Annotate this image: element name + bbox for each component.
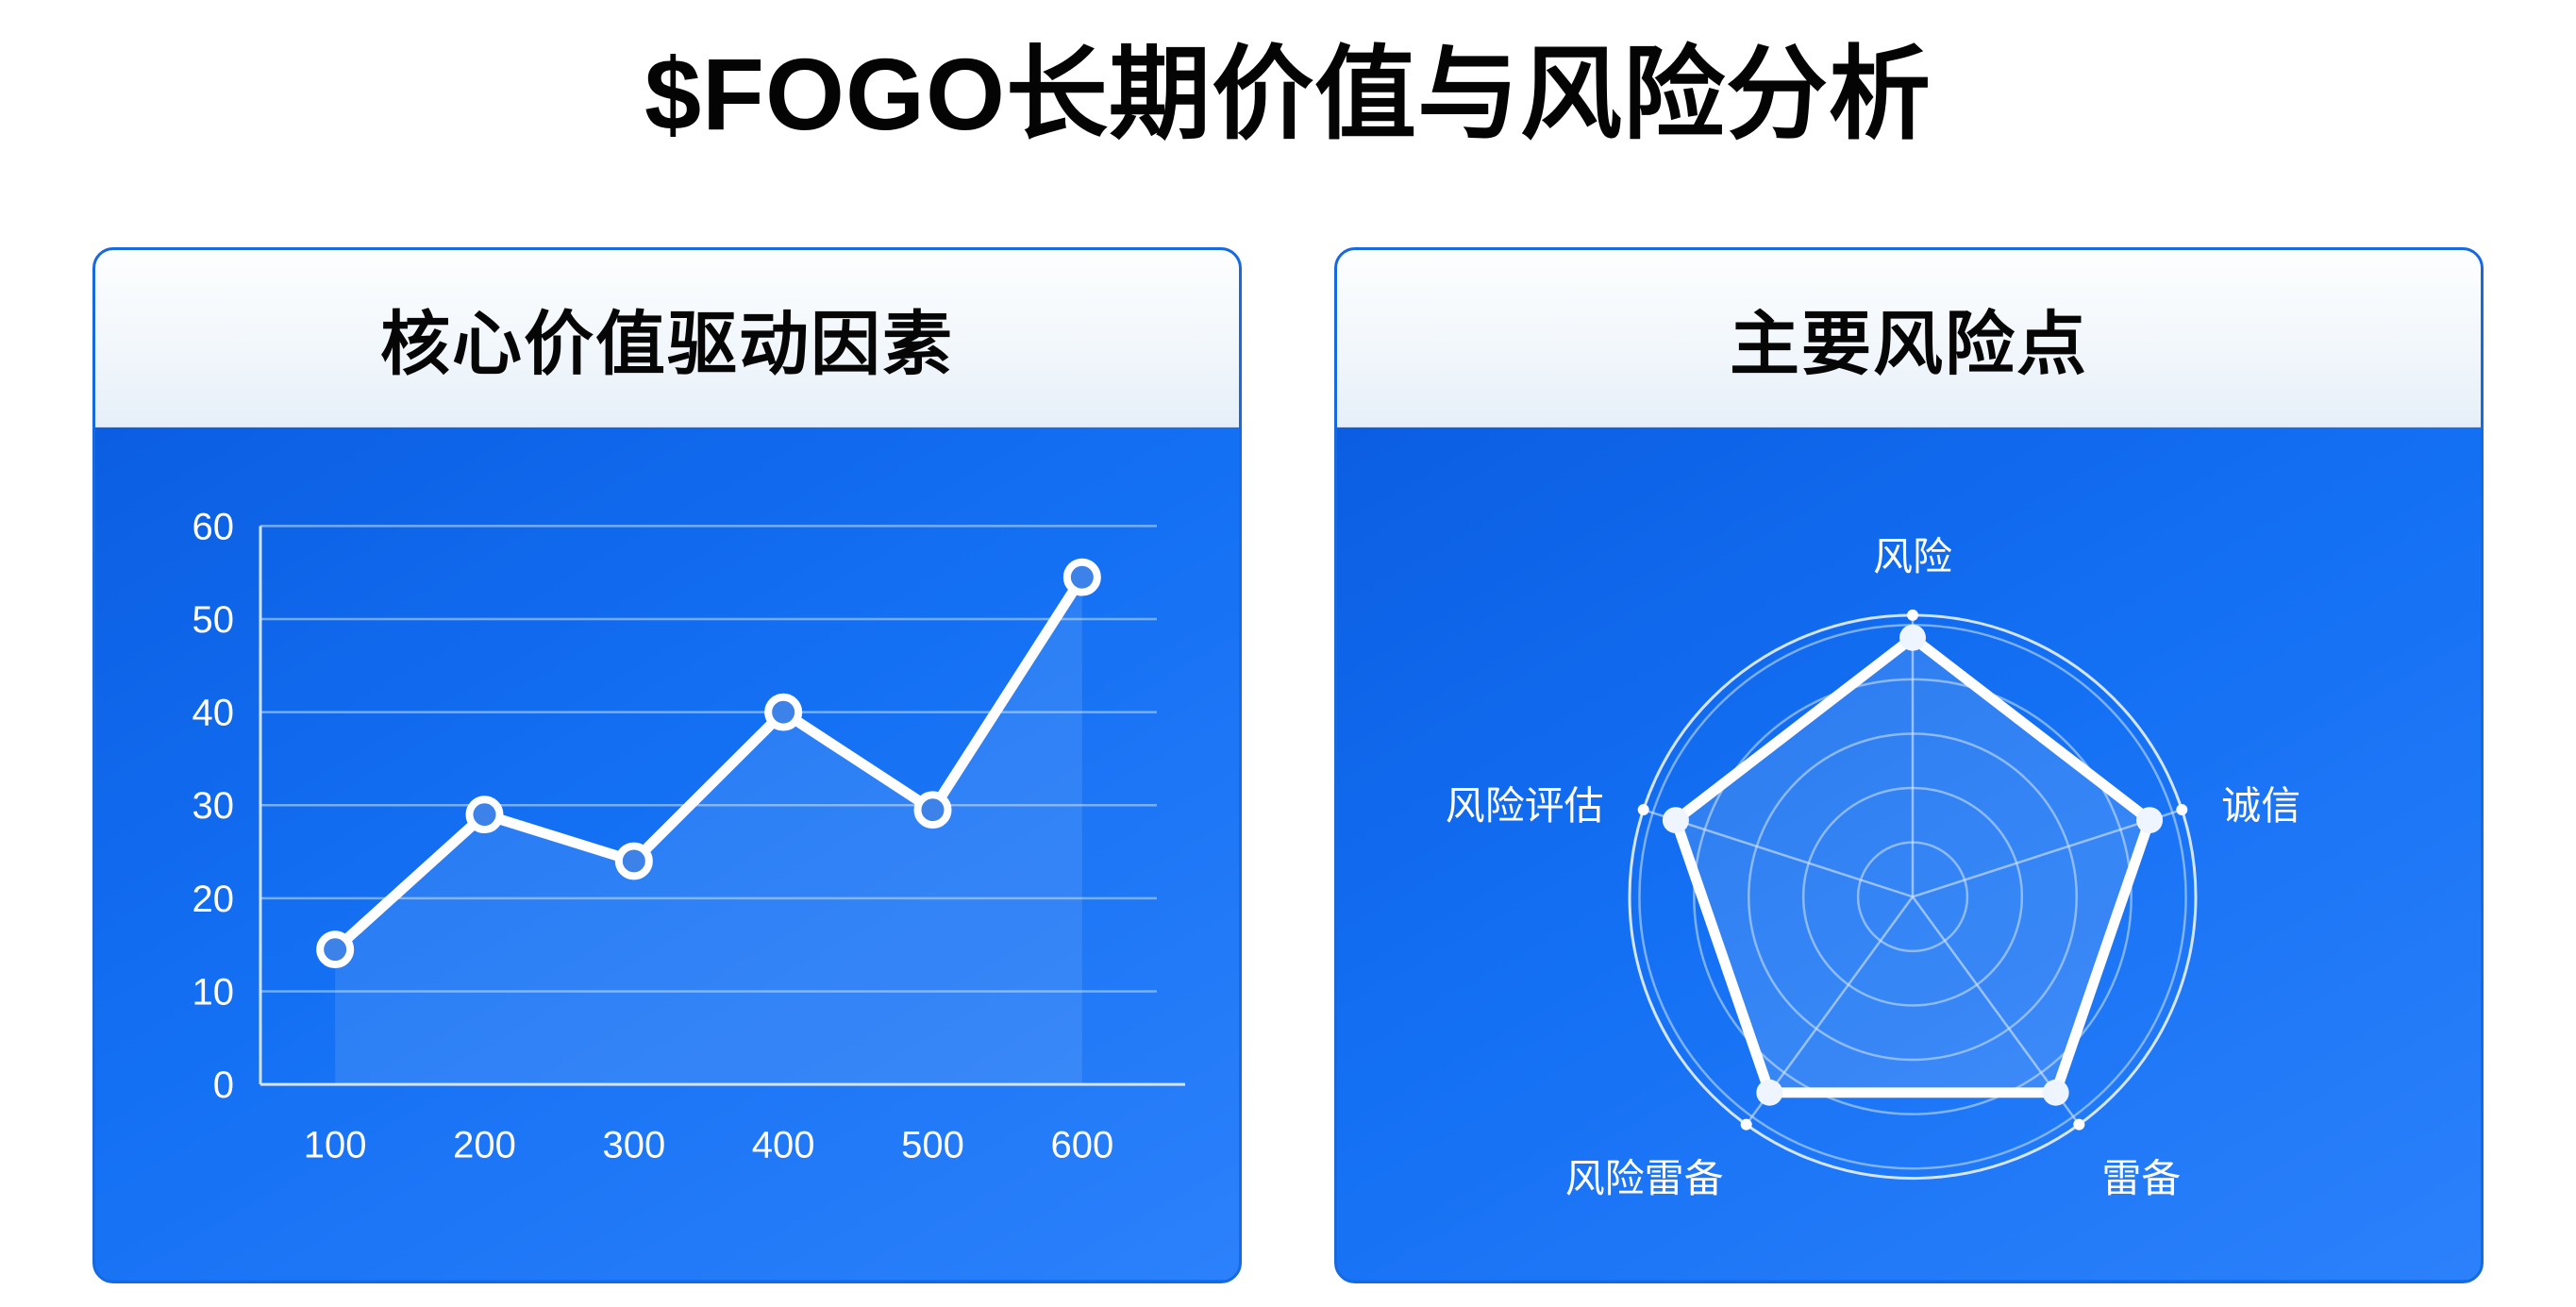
data-point-marker[interactable] [918,795,948,825]
x-axis-tick-label: 300 [602,1125,665,1166]
radar-axis-label: 风险雷备 [1565,1156,1724,1200]
data-point-marker[interactable] [320,934,350,964]
radar-data-point[interactable] [1756,1080,1782,1106]
radar-axis-tip [2176,804,2187,815]
radar-axis-label: 雷备 [2101,1156,2181,1200]
y-axis-tick-label: 60 [192,506,234,547]
radar-data-point[interactable] [1663,807,1689,833]
radar-axis-tip [1741,1119,1752,1131]
radar-chart: 风险诚信雷备风险雷备风险评估 [1337,427,2481,1280]
x-axis-tick-label: 400 [752,1125,815,1166]
x-axis-tick-label: 500 [901,1125,964,1166]
card-title-key-risk-points: 主要风险点 [1730,288,2088,389]
radar-data-point[interactable] [1899,625,1926,651]
y-axis-tick-label: 40 [192,693,234,734]
line-chart: 0102030405060100200300400500600 [95,427,1239,1280]
data-point-marker[interactable] [768,697,798,728]
radar-axis-tip [2073,1119,2084,1131]
page-title: $FOGO长期价值与风险分析 [0,36,2576,153]
radar-data-point[interactable] [2043,1080,2069,1106]
x-axis-tick-label: 100 [304,1125,367,1166]
radar-axis-label: 风险评估 [1446,783,1604,828]
card-body-core-value-drivers: 0102030405060100200300400500600 [95,427,1239,1280]
card-title-core-value-drivers: 核心价值驱动因素 [380,288,954,389]
radar-axis-tip [1638,804,1649,815]
x-axis-tick-label: 200 [453,1125,516,1166]
data-point-marker[interactable] [619,846,649,877]
data-point-marker[interactable] [470,799,500,829]
card-core-value-drivers: 核心价值驱动因素 0102030405060100200300400500600 [92,247,1242,1283]
y-axis-tick-label: 30 [192,785,234,827]
y-axis-tick-label: 0 [213,1064,234,1106]
card-key-risk-points: 主要风险点 风险诚信雷备风险雷备风险评估 [1334,247,2484,1283]
y-axis-tick-label: 20 [192,879,234,920]
card-body-key-risk-points: 风险诚信雷备风险雷备风险评估 [1337,427,2481,1280]
x-axis-tick-label: 600 [1050,1125,1113,1166]
y-axis-tick-label: 10 [192,972,234,1014]
slide-root: $FOGO长期价值与风险分析 核心价值驱动因素 0102030405060100… [0,0,2576,1307]
line-chart-area [335,578,1082,1084]
radar-data-point[interactable] [2136,807,2163,833]
radar-axis-label: 诚信 [2221,783,2300,828]
radar-axis-label: 风险 [1873,534,1952,578]
card-header-core-value-drivers: 核心价值驱动因素 [95,250,1239,427]
card-header-key-risk-points: 主要风险点 [1337,250,2481,427]
data-point-marker[interactable] [1067,562,1097,593]
radar-axis-tip [1907,610,1918,621]
y-axis-tick-label: 50 [192,599,234,641]
